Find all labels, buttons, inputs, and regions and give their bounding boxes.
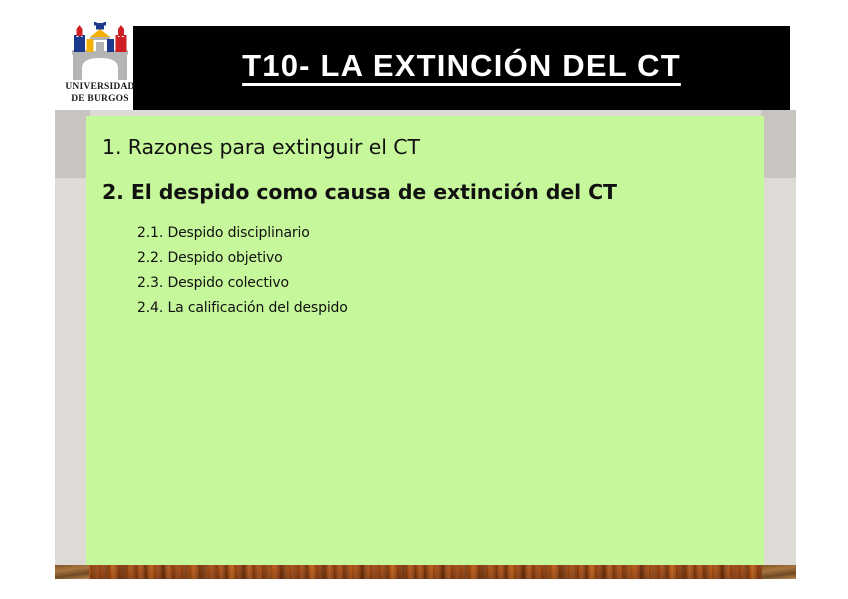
outline-item-2-3-text: Despido colectivo [167,275,289,291]
outline-item-2-1-number: 2.1. [137,225,163,241]
outline-item-2-2-number: 2.2. [137,250,163,266]
outline-item-2-4: 2.4. La calificación del despido [137,296,764,321]
outline-item-1-number: 1. [102,135,121,159]
outline-item-2-2-text: Despido objetivo [167,250,282,266]
outline-item-2-1: 2.1. Despido disciplinario [137,221,764,246]
outline-item-2: 2. El despido como causa de extinción de… [102,179,764,205]
outline-item-2-2: 2.2. Despido objetivo [137,246,764,271]
outline-item-2-4-text: La calificación del despido [167,300,347,316]
logo-caption-line2: DE BURGOS [58,93,142,105]
outline-item-2-1-text: Despido disciplinario [167,225,309,241]
outline-item-2-text: El despido como causa de extinción del C… [131,180,617,204]
outline-item-2-3-number: 2.3. [137,275,163,291]
outline-item-2-3: 2.3. Despido colectivo [137,271,764,296]
outline-item-2-4-number: 2.4. [137,300,163,316]
panel-band-left [55,110,90,178]
panel-band-right [761,110,796,178]
slide-header-bar: T10- LA EXTINCIÓN DEL CT [133,26,790,110]
page-title: T10- LA EXTINCIÓN DEL CT [242,48,681,88]
burgos-gate-icon [62,22,138,82]
outline-sublist: 2.1. Despido disciplinario 2.2. Despido … [94,221,764,321]
outline-item-1-text: Razones para extinguir el CT [128,135,420,159]
outline-item-2-number: 2. [102,180,124,204]
slide-canvas: T10- LA EXTINCIÓN DEL CT [0,0,848,599]
logo-caption-line1: UNIVERSIDAD [58,81,142,93]
universidad-de-burgos-logo: UNIVERSIDAD DE BURGOS [58,22,142,110]
outline-item-1: 1. Razones para extinguir el CT [102,134,764,160]
slide-outline: 1. Razones para extinguir el CT 2. El de… [86,116,764,565]
logo-caption: UNIVERSIDAD DE BURGOS [58,81,142,105]
